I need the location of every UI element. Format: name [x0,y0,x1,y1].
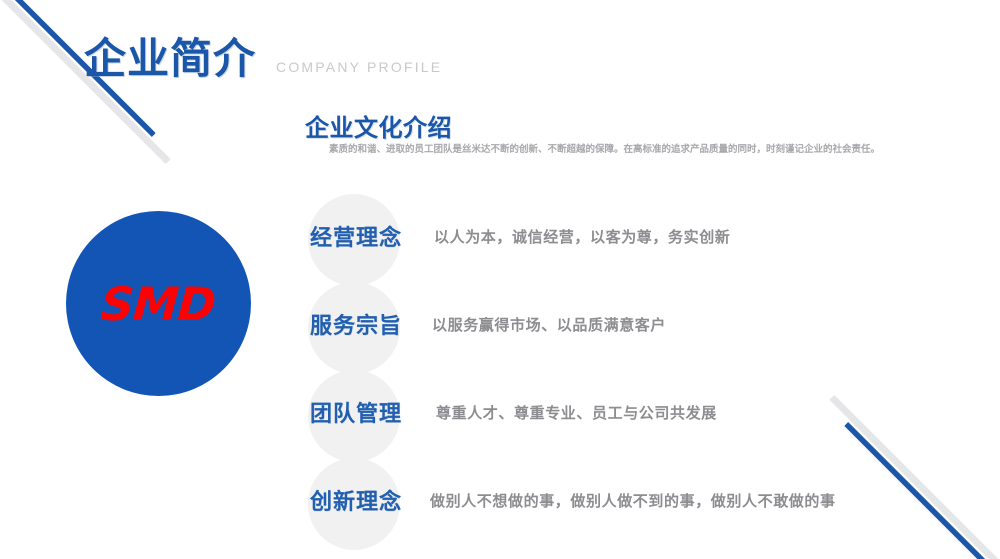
logo-circle: SMD [66,211,251,396]
page-title: 企业简介 COMPANY PROFILE [84,38,442,80]
section-paragraph: 素质的和谐、进取的员工团队是丝米达不断的创新、不断超越的保障。在高标准的追求产品… [305,142,910,159]
stripe-gray-icon [0,0,171,164]
value-text: 以服务赢得市场、以品质满意客户 [432,314,666,335]
corner-decoration-top-left [0,0,200,200]
value-badge: 团队管理 [300,368,412,456]
list-item: 服务宗旨 以服务赢得市场、以品质满意客户 [300,280,950,368]
value-label: 团队管理 [310,396,402,428]
values-list: 经营理念 以人为本，诚信经营，以客为尊，务实创新 服务宗旨 以服务赢得市场、以品… [300,192,950,544]
value-label: 服务宗旨 [310,308,402,340]
value-badge: 创新理念 [300,456,412,544]
value-text: 尊重人才、尊重专业、员工与公司共发展 [436,402,717,423]
page-title-en: COMPANY PROFILE [276,59,442,75]
page-title-cn: 企业简介 [84,38,256,80]
value-label: 创新理念 [310,484,402,516]
list-item: 创新理念 做别人不想做的事，做别人做不到的事，做别人不敢做的事 [300,456,950,544]
slide-company-profile: 企业简介 COMPANY PROFILE 企业文化介绍 素质的和谐、进取的员工团… [0,0,1000,559]
value-text: 做别人不想做的事，做别人做不到的事，做别人不敢做的事 [430,490,836,511]
list-item: 团队管理 尊重人才、尊重专业、员工与公司共发展 [300,368,950,456]
value-badge: 服务宗旨 [300,280,412,368]
section-heading: 企业文化介绍 [305,108,452,143]
value-badge: 经营理念 [300,192,412,280]
value-label: 经营理念 [310,220,402,252]
list-item: 经营理念 以人为本，诚信经营，以客为尊，务实创新 [300,192,950,280]
logo-text: SMD [100,277,218,331]
value-text: 以人为本，诚信经营，以客为尊，务实创新 [434,226,730,247]
